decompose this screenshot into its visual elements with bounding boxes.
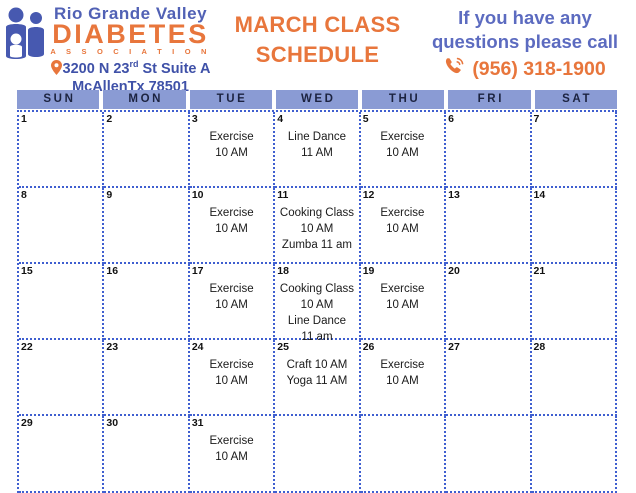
calendar-day-cell-24[interactable]: 24Exercise10 AM <box>190 340 275 416</box>
weekday-header-mon: MON <box>103 90 185 109</box>
calendar-day-cell-empty[interactable] <box>275 416 360 493</box>
calendar-day-cell-25[interactable]: 25Craft 10 AMYoga 11 AM <box>275 340 360 416</box>
day-events: Craft 10 AMYoga 11 AM <box>277 357 356 389</box>
day-number: 30 <box>106 417 185 429</box>
weekday-header-tue: TUE <box>190 90 272 109</box>
day-number: 3 <box>192 113 271 125</box>
calendar-day-cell-20[interactable]: 20 <box>446 264 531 340</box>
phone-row: (956) 318-1900 <box>420 56 630 82</box>
day-events: Exercise10 AM <box>363 357 442 389</box>
page-header: Rio Grande Valley DIABETES A S S O C I A… <box>0 0 636 88</box>
day-number: 4 <box>277 113 356 125</box>
day-number: 17 <box>192 265 271 277</box>
calendar-day-cell-10[interactable]: 10Exercise10 AM <box>190 188 275 264</box>
calendar-day-cell-4[interactable]: 4Line Dance11 AM <box>275 112 360 188</box>
day-events: Cooking Class10 AMLine Dance11 am <box>277 281 356 345</box>
calendar-day-cell-29[interactable]: 29 <box>19 416 104 493</box>
calendar-day-cell-8[interactable]: 8 <box>19 188 104 264</box>
day-number: 11 <box>277 189 356 201</box>
weekday-header-row: SUN MON TUE WED THU FRI SAT <box>17 90 617 109</box>
calendar-day-cell-7[interactable]: 7 <box>532 112 617 188</box>
day-number: 9 <box>106 189 185 201</box>
day-number: 22 <box>21 341 100 353</box>
event-line: Exercise <box>363 281 442 297</box>
day-events: Exercise10 AM <box>192 433 271 465</box>
day-events: Cooking Class10 AMZumba 11 am <box>277 205 356 253</box>
title-line-2: SCHEDULE <box>215 40 420 70</box>
day-number: 7 <box>534 113 613 125</box>
event-line: 10 AM <box>192 373 271 389</box>
family-people-logo-icon <box>2 6 54 62</box>
weekday-header-fri: FRI <box>448 90 530 109</box>
calendar-day-cell-21[interactable]: 21 <box>532 264 617 340</box>
event-line: 10 AM <box>277 297 356 313</box>
weekday-header-sun: SUN <box>17 90 99 109</box>
event-line: Exercise <box>192 433 271 449</box>
event-line: 11 AM <box>277 145 356 161</box>
calendar-day-cell-17[interactable]: 17Exercise10 AM <box>190 264 275 340</box>
day-number: 10 <box>192 189 271 201</box>
calendar-week-row: 293031Exercise10 AM <box>19 416 617 493</box>
day-number: 2 <box>106 113 185 125</box>
calendar-day-cell-19[interactable]: 19Exercise10 AM <box>361 264 446 340</box>
event-line: 10 AM <box>363 297 442 313</box>
event-line: Zumba 11 am <box>277 237 356 253</box>
event-line: 10 AM <box>363 221 442 237</box>
address-street-post: St Suite A <box>138 61 210 77</box>
day-number: 24 <box>192 341 271 353</box>
day-number: 20 <box>448 265 527 277</box>
weekday-header-wed: WED <box>276 90 358 109</box>
calendar-day-cell-27[interactable]: 27 <box>446 340 531 416</box>
address-street-pre: 3200 N 23 <box>63 61 130 77</box>
calendar-week-row: 151617Exercise10 AM18Cooking Class10 AML… <box>19 264 617 340</box>
day-events: Exercise10 AM <box>192 357 271 389</box>
event-line: 10 AM <box>277 221 356 237</box>
calendar-day-cell-empty[interactable] <box>446 416 531 493</box>
day-events: Exercise10 AM <box>363 205 442 237</box>
calendar-day-cell-1[interactable]: 1 <box>19 112 104 188</box>
calendar-day-cell-2[interactable]: 2 <box>104 112 189 188</box>
title-line-1: MARCH CLASS <box>215 10 420 40</box>
day-number: 21 <box>534 265 613 277</box>
brand-line-association: A S S O C I A T I O N <box>46 47 215 56</box>
calendar-day-cell-empty[interactable] <box>532 416 617 493</box>
event-line: 10 AM <box>363 145 442 161</box>
calendar-day-cell-30[interactable]: 30 <box>104 416 189 493</box>
event-line: 10 AM <box>192 145 271 161</box>
calendar-day-cell-15[interactable]: 15 <box>19 264 104 340</box>
day-number: 29 <box>21 417 100 429</box>
calendar-day-cell-6[interactable]: 6 <box>446 112 531 188</box>
day-number: 8 <box>21 189 100 201</box>
calendar-day-cell-18[interactable]: 18Cooking Class10 AMLine Dance11 am <box>275 264 360 340</box>
contact-info: If you have any questions please call (9… <box>420 0 636 82</box>
day-events: Exercise10 AM <box>192 205 271 237</box>
calendar-day-cell-9[interactable]: 9 <box>104 188 189 264</box>
day-events: Line Dance11 AM <box>277 129 356 161</box>
calendar-day-cell-23[interactable]: 23 <box>104 340 189 416</box>
event-line: Exercise <box>192 357 271 373</box>
event-line: 10 AM <box>192 297 271 313</box>
day-number: 27 <box>448 341 527 353</box>
brand-line-diabetes: DIABETES <box>46 21 215 48</box>
event-line: Line Dance <box>277 313 356 329</box>
event-line: Cooking Class <box>277 281 356 297</box>
event-line: 10 AM <box>363 373 442 389</box>
event-line: Exercise <box>363 129 442 145</box>
calendar-grid: 123Exercise10 AM4Line Dance11 AM5Exercis… <box>17 110 617 493</box>
phone-call-icon <box>444 56 465 82</box>
event-line: 10 AM <box>192 221 271 237</box>
day-number: 15 <box>21 265 100 277</box>
calendar-week-row: 8910Exercise10 AM11Cooking Class10 AMZum… <box>19 188 617 264</box>
event-line: Exercise <box>363 205 442 221</box>
event-line: 10 AM <box>192 449 271 465</box>
organization-branding: Rio Grande Valley DIABETES A S S O C I A… <box>0 0 215 96</box>
event-line: Exercise <box>363 357 442 373</box>
day-number: 12 <box>363 189 442 201</box>
event-line: Exercise <box>192 205 271 221</box>
calendar-day-cell-22[interactable]: 22 <box>19 340 104 416</box>
day-number: 23 <box>106 341 185 353</box>
calendar-week-row: 123Exercise10 AM4Line Dance11 AM5Exercis… <box>19 112 617 188</box>
page-title: MARCH CLASS SCHEDULE <box>215 0 420 70</box>
event-line: Exercise <box>192 281 271 297</box>
day-number: 31 <box>192 417 271 429</box>
address-line-1: 3200 N 23rd St Suite A <box>46 57 215 79</box>
calendar-day-cell-13[interactable]: 13 <box>446 188 531 264</box>
day-events: Exercise10 AM <box>192 129 271 161</box>
day-number: 16 <box>106 265 185 277</box>
day-number: 28 <box>534 341 613 353</box>
day-events: Exercise10 AM <box>363 129 442 161</box>
day-number: 18 <box>277 265 356 277</box>
day-number: 26 <box>363 341 442 353</box>
calendar-day-cell-16[interactable]: 16 <box>104 264 189 340</box>
calendar-day-cell-3[interactable]: 3Exercise10 AM <box>190 112 275 188</box>
calendar-day-cell-26[interactable]: 26Exercise10 AM <box>361 340 446 416</box>
day-number: 14 <box>534 189 613 201</box>
day-number: 6 <box>448 113 527 125</box>
contact-line-1: If you have any <box>420 6 630 30</box>
day-events: Exercise10 AM <box>192 281 271 313</box>
event-line: Cooking Class <box>277 205 356 221</box>
calendar-day-cell-5[interactable]: 5Exercise10 AM <box>361 112 446 188</box>
event-line: Yoga 11 AM <box>277 373 356 389</box>
phone-number[interactable]: (956) 318-1900 <box>472 58 605 80</box>
calendar-day-cell-empty[interactable] <box>361 416 446 493</box>
calendar-day-cell-28[interactable]: 28 <box>532 340 617 416</box>
contact-line-2: questions please call <box>420 30 630 54</box>
event-line: Line Dance <box>277 129 356 145</box>
weekday-header-sat: SAT <box>535 90 617 109</box>
day-number: 1 <box>21 113 100 125</box>
calendar-day-cell-14[interactable]: 14 <box>532 188 617 264</box>
event-line: Craft 10 AM <box>277 357 356 373</box>
calendar-day-cell-11[interactable]: 11Cooking Class10 AMZumba 11 am <box>275 188 360 264</box>
day-events: Exercise10 AM <box>363 281 442 313</box>
calendar-day-cell-31[interactable]: 31Exercise10 AM <box>190 416 275 493</box>
day-number: 19 <box>363 265 442 277</box>
calendar-week-row: 222324Exercise10 AM25Craft 10 AMYoga 11 … <box>19 340 617 416</box>
event-line: Exercise <box>192 129 271 145</box>
day-number: 25 <box>277 341 356 353</box>
calendar-day-cell-12[interactable]: 12Exercise10 AM <box>361 188 446 264</box>
day-number: 13 <box>448 189 527 201</box>
location-pin-icon <box>51 60 62 80</box>
weekday-header-thu: THU <box>362 90 444 109</box>
day-number: 5 <box>363 113 442 125</box>
